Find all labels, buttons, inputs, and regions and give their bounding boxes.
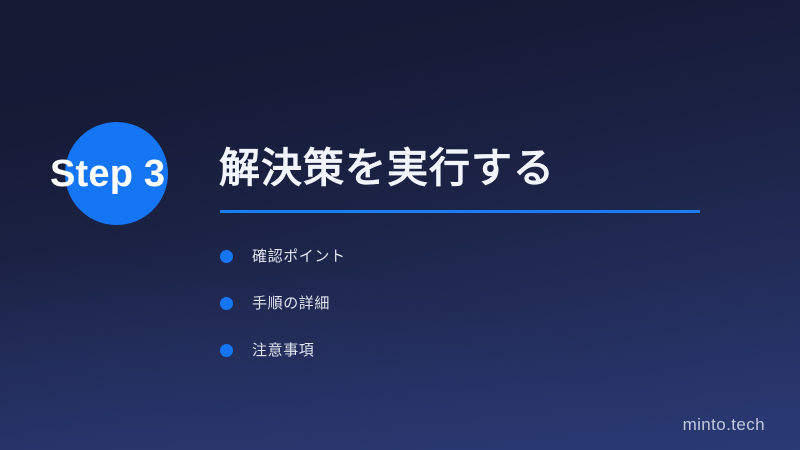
slide-title: 解決策を実行する xyxy=(219,142,555,194)
bullet-dot-icon xyxy=(220,344,233,357)
presentation-slide: Step 3 解決策を実行する 確認ポイント 手順の詳細 注意事項 minto.… xyxy=(0,0,800,450)
step-badge-label: Step 3 xyxy=(50,152,165,196)
list-item-label: 手順の詳細 xyxy=(252,294,330,314)
list-item-label: 確認ポイント xyxy=(252,247,346,267)
list-item: 手順の詳細 xyxy=(220,280,640,327)
bullet-dot-icon xyxy=(220,250,233,263)
slide-content: Step 3 解決策を実行する 確認ポイント 手順の詳細 注意事項 minto.… xyxy=(0,0,800,450)
title-divider xyxy=(220,210,700,213)
brand-watermark: minto.tech xyxy=(683,415,765,435)
list-item: 確認ポイント xyxy=(220,233,640,280)
list-item-label: 注意事項 xyxy=(252,341,314,361)
bullet-list: 確認ポイント 手順の詳細 注意事項 xyxy=(220,233,640,374)
bullet-dot-icon xyxy=(220,297,233,310)
list-item: 注意事項 xyxy=(220,327,640,374)
